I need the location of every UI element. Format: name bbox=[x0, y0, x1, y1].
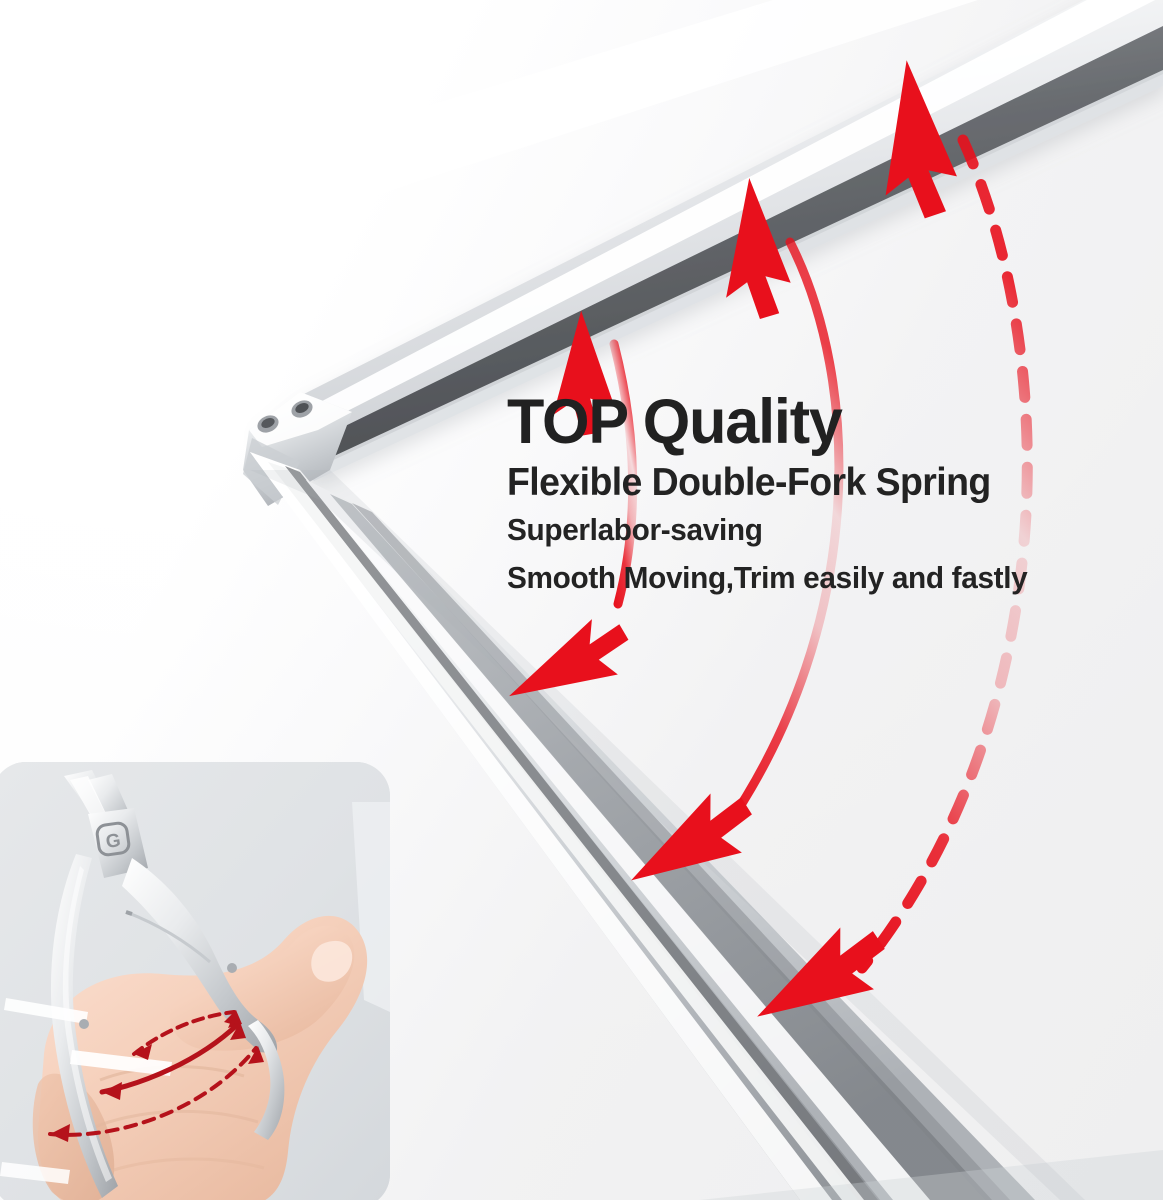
inset-illustration: G bbox=[0, 762, 390, 1200]
headline: TOP Quality bbox=[507, 392, 1089, 454]
arrow-head-down-inner bbox=[504, 617, 632, 696]
inset-photo-card: G bbox=[0, 762, 390, 1200]
brand-logo-glyph: G bbox=[105, 830, 123, 853]
subheadline: Flexible Double-Fork Spring bbox=[507, 463, 1083, 504]
product-banner: TOP Quality Flexible Double-Fork Spring … bbox=[0, 0, 1163, 1200]
bullet-line-1: Superlabor-saving bbox=[507, 509, 1083, 551]
copy-block: TOP Quality Flexible Double-Fork Spring … bbox=[507, 392, 1107, 599]
bullet-line-2: Smooth Moving,Trim easily and fastly bbox=[507, 557, 1083, 599]
